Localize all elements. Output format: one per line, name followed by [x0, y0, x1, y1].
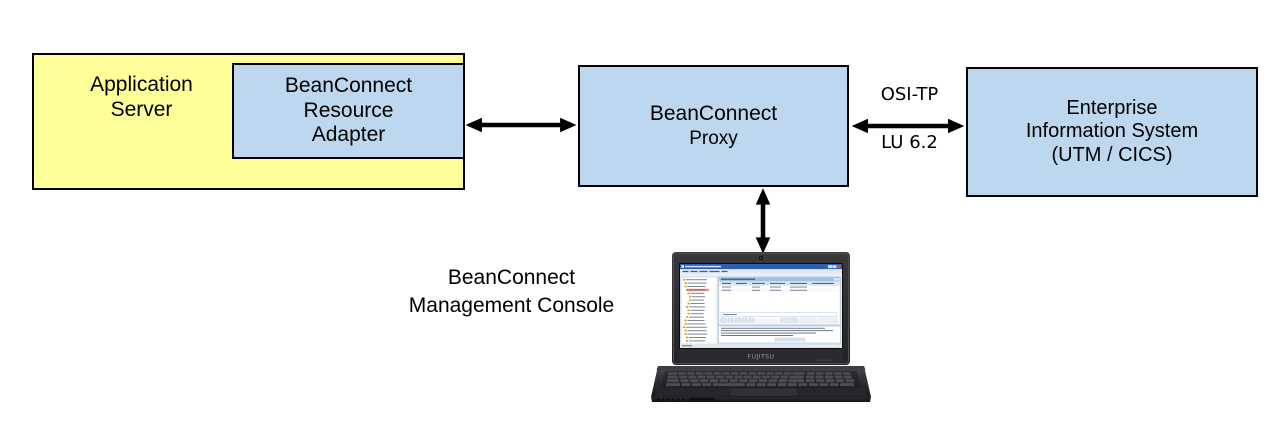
- resource-adapter-label-line2: Resource: [304, 99, 394, 122]
- proxy-label: BeanConnect Proxy: [650, 102, 777, 151]
- management-console-caption-line2: Management Console: [409, 294, 614, 317]
- eis-label-line1: Enterprise: [1026, 97, 1198, 120]
- eis-label: Enterprise Information System (UTM / CIC…: [1026, 97, 1198, 167]
- proxy-label-line2: Proxy: [689, 128, 738, 149]
- application-server-label-line2: Server: [111, 98, 173, 121]
- protocol-labels: OSI-TP LU 6.2: [852, 84, 967, 174]
- protocol-label-lu62: LU 6.2: [852, 132, 967, 153]
- enterprise-information-system-box: Enterprise Information System (UTM / CIC…: [966, 67, 1258, 197]
- laptop-screen-management-console: [680, 264, 842, 348]
- resource-adapter-label-line3: Adapter: [312, 123, 386, 146]
- laptop-base: [651, 366, 871, 402]
- resource-adapter-label-line1: BeanConnect: [285, 74, 412, 97]
- beanconnect-proxy-box: BeanConnect Proxy: [578, 65, 849, 187]
- resource-adapter-to-proxy-arrow: [460, 115, 582, 135]
- laptop-lid-chin: FUJITSU: [679, 349, 843, 363]
- eis-label-line2: Information System: [1026, 120, 1198, 143]
- management-console-caption-line1: BeanConnect: [448, 266, 575, 289]
- diagram-canvas: Application Server BeanConnect Resource …: [0, 0, 1273, 435]
- management-console-to-proxy-arrow: [753, 185, 773, 257]
- eis-label-line3: (UTM / CICS): [1026, 144, 1198, 167]
- fujitsu-logo: FUJITSU: [748, 353, 775, 360]
- resource-adapter-label: BeanConnect Resource Adapter: [285, 74, 412, 147]
- laptop-trackpad: [731, 390, 797, 395]
- protocol-label-osi-tp: OSI-TP: [852, 84, 967, 105]
- laptop-illustration: FUJITSU: [645, 250, 877, 414]
- application-server-label-line1: Application: [90, 73, 193, 96]
- management-console-caption: BeanConnect Management Console: [388, 264, 635, 319]
- proxy-label-line1: BeanConnect: [650, 102, 777, 125]
- application-server-label: Application Server: [44, 73, 239, 123]
- beanconnect-resource-adapter-box: BeanConnect Resource Adapter: [232, 63, 465, 159]
